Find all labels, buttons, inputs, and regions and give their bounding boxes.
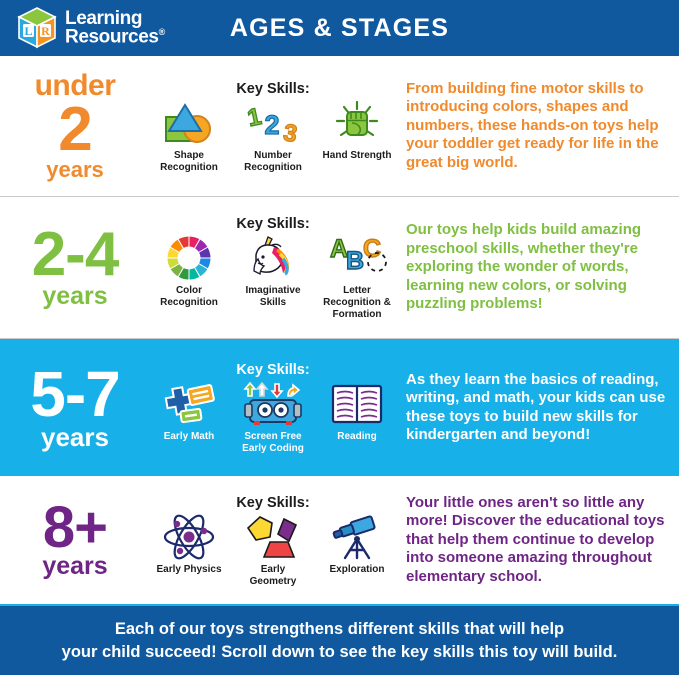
age-unit: years: [4, 424, 146, 450]
unicorn-icon: [246, 234, 300, 282]
skill-item[interactable]: Hand Strength: [315, 99, 399, 162]
skill-label: Screen Free Early Coding: [242, 431, 304, 455]
skills-column-8-plus: Key Skills:: [146, 493, 400, 588]
skill-item[interactable]: 1 2 3 Number Recognition: [231, 99, 315, 174]
skill-label: Reading: [337, 431, 376, 443]
fist-hand-strength-icon: [332, 99, 382, 147]
age-number: 2: [4, 101, 146, 158]
age-number: 8+: [4, 501, 146, 554]
header-bar: L R Learning Resources® AGES & STAGES: [0, 0, 679, 56]
age-label-under-2: under 2 years: [0, 71, 146, 180]
skill-item[interactable]: Early Geometry: [231, 513, 315, 588]
age-section-8-plus: 8+ years Key Skills:: [0, 476, 679, 606]
color-wheel-icon: [165, 234, 213, 282]
brand-line-1: Learning: [65, 10, 165, 28]
description-column-2-4: Our toys help kids build amazing prescho…: [400, 221, 679, 313]
age-section-5-7: 5-7 years Key Skills:: [0, 339, 679, 476]
section-description: From building fine motor skills to intro…: [406, 80, 667, 172]
skill-item[interactable]: Reading: [315, 380, 399, 443]
registered-mark: ®: [159, 27, 165, 37]
age-number: 5-7: [4, 365, 146, 424]
skill-row: Early Math: [146, 380, 400, 455]
section-description: As they learn the basics of reading, wri…: [406, 371, 667, 445]
skill-item[interactable]: A B C Letter Recognition & Formation: [315, 234, 399, 320]
skill-label: Shape Recognition: [160, 150, 218, 174]
numbers-123-icon: 1 2 3: [246, 99, 300, 147]
skill-row: Shape Recognition 1 2 3 Number Re: [146, 99, 400, 174]
skill-item[interactable]: Shape Recognition: [147, 99, 231, 174]
key-skills-heading: Key Skills:: [146, 495, 400, 511]
svg-text:R: R: [41, 24, 50, 38]
section-description: Our toys help kids build amazing prescho…: [406, 221, 667, 313]
key-skills-heading: Key Skills:: [146, 216, 400, 232]
skill-item[interactable]: Imaginative Skills: [231, 234, 315, 309]
svg-text:1: 1: [246, 103, 264, 132]
footer-line-1: Each of our toys strengthens different s…: [115, 618, 564, 640]
shapes-icon: [163, 99, 215, 147]
svg-text:B: B: [346, 247, 364, 275]
description-column-8-plus: Your little ones aren't so little any mo…: [400, 494, 679, 586]
footer-line-2: your child succeed! Scroll down to see t…: [62, 641, 618, 663]
skills-column-under-2: Key Skills: Shape Recognition: [146, 79, 400, 174]
skill-item[interactable]: Early Physics: [147, 513, 231, 576]
description-column-under-2: From building fine motor skills to intro…: [400, 80, 679, 172]
brand-line-2: Resources®: [65, 28, 165, 46]
age-unit: years: [4, 284, 146, 309]
age-section-2-4: 2-4 years Key Skills:: [0, 197, 679, 339]
age-unit: years: [4, 159, 146, 181]
learning-resources-cube-icon: L R: [16, 6, 58, 50]
skill-label: Number Recognition: [244, 150, 302, 174]
skills-column-5-7: Key Skills:: [146, 360, 400, 455]
age-unit: years: [4, 554, 146, 579]
atom-icon: [162, 513, 216, 561]
age-label-8-plus: 8+ years: [0, 501, 146, 579]
key-skills-heading: Key Skills:: [146, 362, 400, 378]
skill-item[interactable]: Screen Free Early Coding: [231, 380, 315, 455]
skills-column-2-4: Key Skills:: [146, 214, 400, 320]
geometry-shapes-icon: [244, 513, 302, 561]
skill-item[interactable]: Exploration: [315, 513, 399, 576]
open-book-icon: [330, 380, 384, 428]
skill-row: Early Physics Early Geometry: [146, 513, 400, 588]
abc-letters-icon: A B C: [327, 234, 387, 282]
skill-label: Early Math: [164, 431, 215, 443]
description-column-5-7: As they learn the basics of reading, wri…: [400, 371, 679, 445]
svg-text:C: C: [363, 235, 381, 263]
skill-item[interactable]: Early Math: [147, 380, 231, 443]
math-symbols-icon: [161, 380, 217, 428]
infographic-page: L R Learning Resources® AGES & STAGES un…: [0, 0, 679, 678]
svg-text:3: 3: [281, 119, 299, 145]
age-section-under-2: under 2 years Key Skills: Shape: [0, 56, 679, 197]
section-description: Your little ones aren't so little any mo…: [406, 494, 667, 586]
skill-label: Exploration: [329, 564, 384, 576]
svg-text:L: L: [24, 24, 32, 38]
skill-label: Imaginative Skills: [245, 285, 300, 309]
coding-robot-icon: [242, 380, 304, 428]
svg-text:2: 2: [264, 110, 279, 140]
skill-row: Color Recognition: [146, 234, 400, 320]
skill-label: Hand Strength: [323, 150, 392, 162]
telescope-icon: [329, 513, 385, 561]
brand-wordmark: Learning Resources®: [65, 10, 165, 46]
skill-label: Early Geometry: [250, 564, 297, 588]
brand-logo[interactable]: L R Learning Resources®: [16, 6, 165, 50]
age-number: 2-4: [4, 226, 146, 283]
skill-label: Early Physics: [156, 564, 221, 576]
age-label-2-4: 2-4 years: [0, 226, 146, 308]
key-skills-heading: Key Skills:: [146, 81, 400, 97]
age-label-5-7: 5-7 years: [0, 365, 146, 450]
skill-item[interactable]: Color Recognition: [147, 234, 231, 309]
skill-label: Color Recognition: [160, 285, 218, 309]
footer-banner: Each of our toys strengthens different s…: [0, 606, 679, 675]
skill-label: Letter Recognition & Formation: [323, 285, 391, 320]
